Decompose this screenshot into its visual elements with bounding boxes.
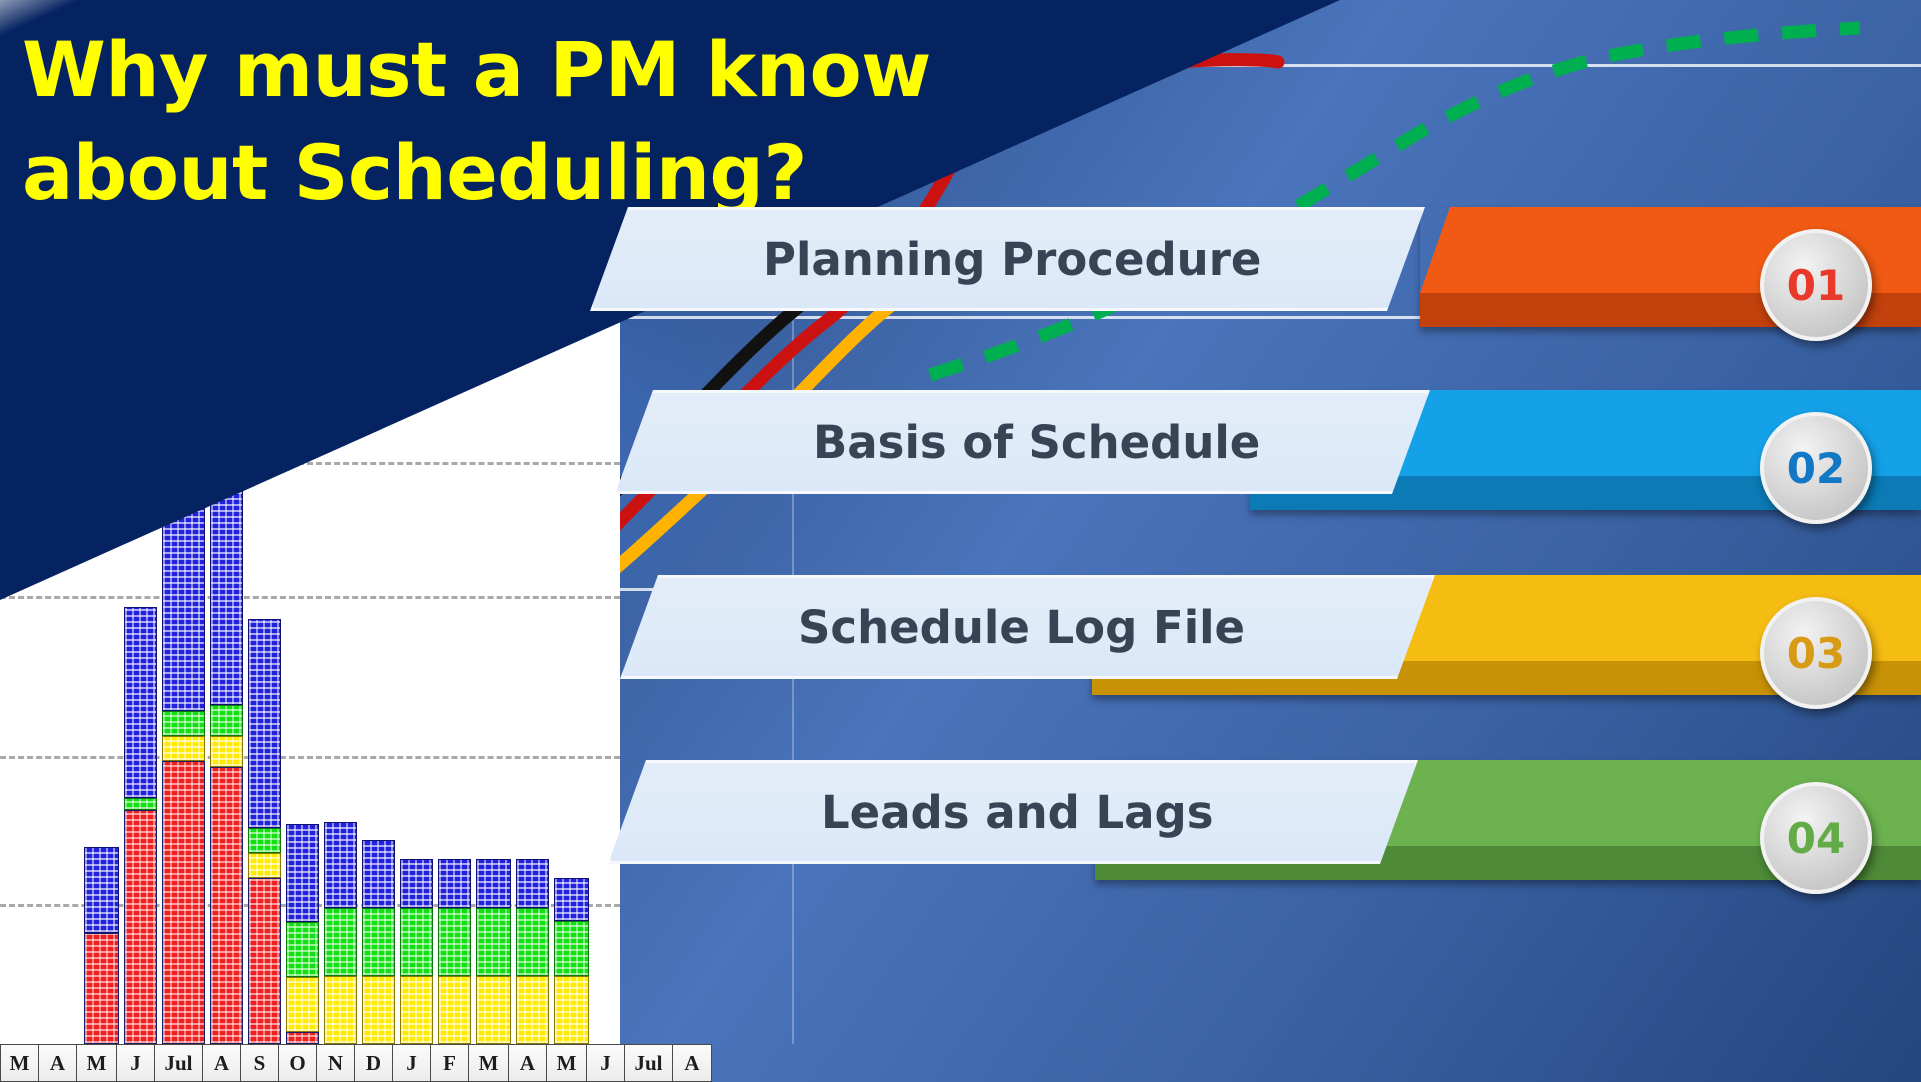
month-label: S (240, 1044, 278, 1082)
bar-segment-yellow (286, 977, 319, 1032)
slide-canvas: MAMJJulASONDJFMAMJJulA Why must a PM kno… (0, 0, 1921, 1082)
bar-segment-yellow (324, 976, 357, 1044)
agenda-item-label: Schedule Log File (798, 601, 1245, 654)
bar-segment-yellow (438, 976, 471, 1044)
bar-segment-green (438, 908, 471, 976)
agenda-number-badge-02: 02 (1760, 412, 1872, 524)
agenda-label-panel[interactable]: Basis of Schedule (615, 390, 1430, 494)
bar-segment-green (324, 908, 357, 976)
month-label: N (316, 1044, 354, 1082)
bar-segment-green (210, 705, 243, 736)
bar-segment-yellow (516, 976, 549, 1044)
bar-segment-red (248, 878, 281, 1044)
agenda-row-02[interactable]: Basis of Schedule02 (0, 390, 1921, 510)
bar-stack (210, 416, 243, 1044)
agenda-label-panel[interactable]: Planning Procedure (590, 207, 1425, 311)
bar-stack (476, 859, 511, 1044)
month-label: A (202, 1044, 240, 1082)
bar-segment-green (286, 922, 319, 977)
month-label: M (546, 1044, 586, 1082)
bar-segment-yellow (476, 976, 511, 1044)
bar-stack (162, 440, 205, 1044)
agenda-number-badge-04: 04 (1760, 782, 1872, 894)
agenda-label-panel[interactable]: Leads and Lags (608, 760, 1418, 864)
bar-segment-yellow (362, 976, 395, 1044)
bar-segment-red (286, 1032, 319, 1044)
agenda-row-01[interactable]: Planning Procedure01 (0, 207, 1921, 327)
month-label: J (392, 1044, 430, 1082)
page-title: Why must a PM know about Scheduling? (22, 18, 922, 225)
bar-stack (554, 878, 589, 1044)
bar-segment-yellow (554, 976, 589, 1044)
agenda-row-04[interactable]: Leads and Lags04 (0, 760, 1921, 880)
month-label: A (508, 1044, 546, 1082)
bar-segment-green (400, 908, 433, 976)
bar-segment-red (84, 933, 119, 1044)
title-line-1: Why must a PM know (22, 18, 922, 121)
agenda-item-label: Basis of Schedule (813, 416, 1260, 469)
agenda-number-badge-01: 01 (1760, 229, 1872, 341)
bar-segment-green (476, 908, 511, 976)
bar-segment-blue (554, 878, 589, 921)
agenda-item-label: Leads and Lags (821, 786, 1214, 839)
month-label: Jul (154, 1044, 202, 1082)
agenda-row-03[interactable]: Schedule Log File03 (0, 575, 1921, 695)
month-label: M (468, 1044, 508, 1082)
bar-stack (438, 859, 471, 1044)
bar-segment-green (554, 921, 589, 976)
bar-segment-green (162, 711, 205, 736)
agenda-item-label: Planning Procedure (763, 233, 1261, 286)
agenda-label-panel[interactable]: Schedule Log File (620, 575, 1435, 679)
month-label: M (0, 1044, 38, 1082)
month-label: A (38, 1044, 76, 1082)
agenda-number-badge-03: 03 (1760, 597, 1872, 709)
bar-segment-yellow (162, 736, 205, 761)
bar-segment-green (516, 908, 549, 976)
month-label: D (354, 1044, 392, 1082)
bar-stack (400, 859, 433, 1044)
month-label: J (586, 1044, 624, 1082)
bar-stack (516, 859, 549, 1044)
month-axis: MAMJJulASONDJFMAMJJulA (0, 1044, 760, 1082)
month-label: F (430, 1044, 468, 1082)
month-label: A (672, 1044, 712, 1082)
bar-segment-yellow (400, 976, 433, 1044)
month-label: M (76, 1044, 116, 1082)
bar-segment-green (362, 908, 395, 976)
month-label: Jul (624, 1044, 672, 1082)
month-label: O (278, 1044, 316, 1082)
month-label: J (116, 1044, 154, 1082)
